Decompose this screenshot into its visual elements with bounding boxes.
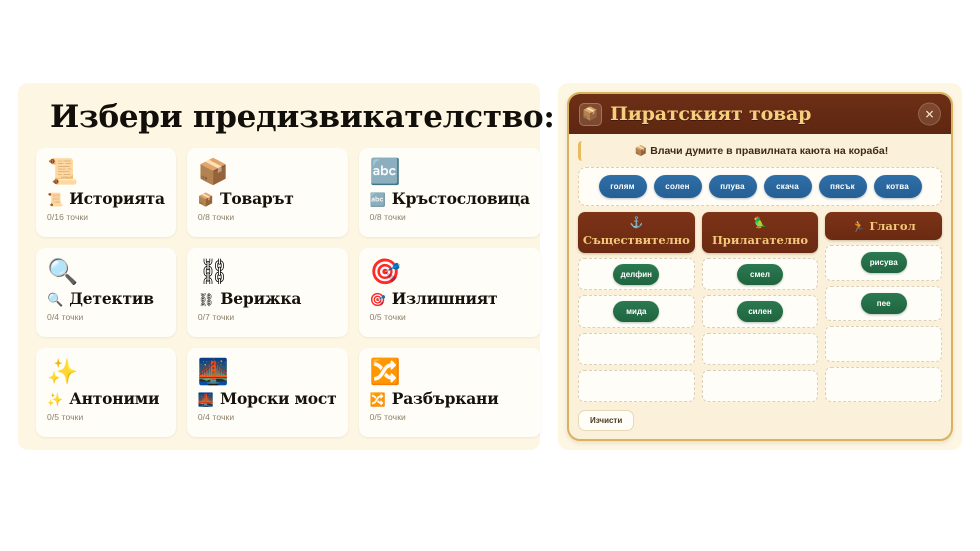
target-icon: 🎯 — [370, 257, 530, 287]
challenge-card-title: Товарът — [220, 189, 294, 208]
challenge-card-points: 0/8 точки — [198, 212, 337, 222]
challenge-card-title-row: 🔍Детектив — [47, 289, 165, 308]
bridge-icon: 🌉 — [198, 357, 337, 387]
challenge-card-points: 0/4 точки — [47, 312, 165, 322]
sparkles-icon: ✨ — [47, 393, 63, 406]
challenge-card[interactable]: 📦📦Товарът0/8 точки — [187, 148, 348, 237]
challenge-card-title: Верижка — [220, 289, 301, 308]
drop-slot[interactable]: рисува — [825, 245, 942, 281]
challenge-card-points: 0/7 точки — [198, 312, 337, 322]
challenge-card[interactable]: 🔀🔀Разбъркани0/5 точки — [359, 348, 541, 437]
scroll-icon: 📜 — [47, 193, 63, 206]
placed-word[interactable]: силен — [737, 301, 783, 322]
placed-word[interactable]: мида — [613, 301, 659, 322]
challenge-card-title-row: ⛓Верижка — [198, 289, 337, 308]
hint-text: Влачи думите в правилната каюта на кораб… — [650, 145, 888, 157]
drop-slot[interactable] — [702, 333, 819, 365]
challenge-card-title-row: 🔀Разбъркани — [370, 389, 530, 408]
hint-banner: 📦Влачи думите в правилната каюта на кора… — [578, 141, 942, 161]
challenge-card-title: Разбъркани — [392, 389, 499, 408]
shuffle-icon: 🔀 — [370, 393, 386, 406]
challenge-card-points: 0/5 точки — [47, 412, 165, 422]
word-chip[interactable]: котва — [874, 175, 922, 198]
package-icon: 📦 — [579, 103, 602, 126]
challenge-card-points: 0/4 точки — [198, 412, 337, 422]
challenge-card[interactable]: 🔍🔍Детектив0/4 точки — [36, 248, 176, 337]
chains-icon: ⛓ — [198, 257, 337, 287]
drop-slot[interactable]: делфин — [578, 258, 695, 290]
magnifier-icon: 🔍 — [47, 257, 165, 287]
pirate-cargo-modal: 📦 Пиратският товар ✕ 📦Влачи думите в пра… — [567, 92, 953, 441]
modal-title: Пиратският товар — [610, 103, 811, 125]
word-chip[interactable]: солен — [654, 175, 702, 198]
category-column: 🏃Глаголрисувапее — [825, 212, 942, 402]
category-label: Съществително — [583, 233, 690, 247]
placed-word[interactable]: делфин — [613, 264, 659, 285]
page-title: Избери предизвикателство: — [50, 99, 526, 135]
challenge-card-points: 0/8 точки — [370, 212, 530, 222]
category-icon: 🦜 — [706, 216, 815, 229]
category-header: ⚓Съществително — [578, 212, 695, 253]
word-chip[interactable]: голям — [599, 175, 647, 198]
drop-slot[interactable]: силен — [702, 295, 819, 327]
category-column: 🦜Прилагателносмелсилен — [702, 212, 819, 402]
challenge-card-points: 0/5 точки — [370, 312, 530, 322]
challenge-card-title: Кръстословица — [392, 189, 530, 208]
challenge-card[interactable]: 🔤🔤Кръстословица0/8 точки — [359, 148, 541, 237]
abc-icon: 🔤 — [370, 157, 530, 187]
challenge-card-title: Детектив — [69, 289, 154, 308]
drop-slot[interactable] — [578, 370, 695, 402]
category-header: 🦜Прилагателно — [702, 212, 819, 253]
challenge-card[interactable]: 📜📜Историята0/16 точки — [36, 148, 176, 237]
app-root: Избери предизвикателство: 📜📜Историята0/1… — [0, 0, 980, 551]
word-chip[interactable]: скача — [764, 175, 812, 198]
drop-slot[interactable] — [702, 370, 819, 402]
challenge-card[interactable]: 🌉🌉Морски мост0/4 точки — [187, 348, 348, 437]
magnifier-icon: 🔍 — [47, 293, 63, 306]
drop-slot[interactable] — [578, 333, 695, 365]
challenge-card-title-row: 📦Товарът — [198, 189, 337, 208]
clear-button[interactable]: Изчисти — [578, 410, 634, 431]
challenge-card-grid: 📜📜Историята0/16 точки📦📦Товарът0/8 точки🔤… — [32, 148, 526, 437]
close-icon[interactable]: ✕ — [918, 103, 941, 126]
word-chip[interactable]: плува — [709, 175, 757, 198]
modal-header: 📦 Пиратският товар ✕ — [569, 94, 951, 134]
modal-body: 📦Влачи думите в правилната каюта на кора… — [569, 134, 951, 439]
drop-slot[interactable]: смел — [702, 258, 819, 290]
challenge-card-title: Историята — [69, 189, 165, 208]
abc-icon: 🔤 — [370, 193, 386, 206]
sparkles-icon: ✨ — [47, 357, 165, 387]
challenge-card-points: 0/5 точки — [370, 412, 530, 422]
category-label: Глагол — [869, 219, 915, 233]
placed-word[interactable]: пее — [861, 293, 907, 314]
category-columns: ⚓Съществителноделфинмида🦜Прилагателносме… — [578, 212, 942, 402]
package-icon: 📦 — [635, 146, 647, 157]
challenge-selection-panel: Избери предизвикателство: 📜📜Историята0/1… — [18, 83, 540, 450]
drop-slot[interactable]: мида — [578, 295, 695, 327]
challenge-card-title-row: 🔤Кръстословица — [370, 189, 530, 208]
scroll-icon: 📜 — [47, 157, 165, 187]
challenge-card-points: 0/16 точки — [47, 212, 165, 222]
challenge-card-title-row: 🌉Морски мост — [198, 389, 337, 408]
category-label: Прилагателно — [712, 233, 808, 247]
placed-word[interactable]: рисува — [861, 252, 907, 273]
drop-slot[interactable] — [825, 326, 942, 362]
drop-slot[interactable] — [825, 367, 942, 403]
challenge-card-title-row: 🎯Излишният — [370, 289, 530, 308]
package-icon: 📦 — [198, 157, 337, 187]
challenge-card[interactable]: 🎯🎯Излишният0/5 точки — [359, 248, 541, 337]
bridge-icon: 🌉 — [198, 393, 214, 406]
drop-slot[interactable]: пее — [825, 286, 942, 322]
category-icon: 🏃 — [852, 221, 866, 232]
challenge-card-title: Излишният — [392, 289, 498, 308]
category-header: 🏃Глагол — [825, 212, 942, 240]
category-icon: ⚓ — [582, 216, 691, 229]
challenge-card[interactable]: ⛓⛓Верижка0/7 точки — [187, 248, 348, 337]
challenge-card-title-row: ✨Антоними — [47, 389, 165, 408]
chains-icon: ⛓ — [198, 293, 215, 306]
modal-footer: Изчисти — [578, 408, 942, 431]
challenge-card-title-row: 📜Историята — [47, 189, 165, 208]
category-column: ⚓Съществителноделфинмида — [578, 212, 695, 402]
challenge-card[interactable]: ✨✨Антоними0/5 точки — [36, 348, 176, 437]
challenge-card-title: Морски мост — [220, 389, 337, 408]
game-modal-panel: 📦 Пиратският товар ✕ 📦Влачи думите в пра… — [558, 83, 962, 450]
word-chip[interactable]: пясък — [819, 175, 867, 198]
package-icon: 📦 — [198, 193, 214, 206]
target-icon: 🎯 — [370, 293, 386, 306]
shuffle-icon: 🔀 — [370, 357, 530, 387]
placed-word[interactable]: смел — [737, 264, 783, 285]
word-bank: голямсоленплуваскачапясъккотва — [578, 167, 942, 206]
challenge-card-title: Антоними — [69, 389, 159, 408]
